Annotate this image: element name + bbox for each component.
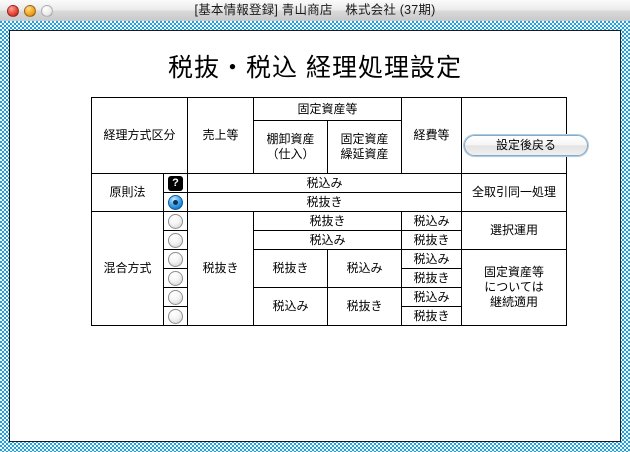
row-5-tanaoroshi: 税抜き (254, 250, 328, 288)
biko-keizoku: 固定資産等 については 継続適用 (462, 250, 567, 326)
page-title: 税抜・税込 経理処理設定 (10, 48, 620, 84)
biko-gensokuho: 全取引同一処理 (462, 174, 567, 212)
radio-row-6[interactable] (164, 269, 188, 288)
zoom-button[interactable] (41, 5, 53, 17)
header-kotei-line2: 繰延資産 (328, 147, 401, 162)
return-after-setting-button-wrap: 設定後戻る (464, 135, 588, 156)
radio-row-4[interactable] (164, 231, 188, 250)
row-6-keihi: 税抜き (402, 269, 462, 288)
kongo-uriage-value: 税抜き (188, 212, 254, 326)
row-5-kotei: 税込み (328, 250, 402, 288)
biko-keizoku-line1: 固定資産等 (462, 265, 566, 280)
table-header-row-1: 経理方式区分 売上等 固定資産等 経費等 備考 (92, 98, 567, 121)
row-3-keihi: 税込み (402, 212, 462, 231)
close-button[interactable] (7, 5, 19, 17)
group-label-gensokuho: 原則法 (92, 174, 164, 212)
biko-keizoku-line3: 継続適用 (462, 295, 566, 310)
group-label-kongo: 混合方式 (92, 212, 164, 326)
window-controls (7, 5, 53, 17)
window-title: [基本情報登録] 青山商店 株式会社 (37期) (0, 0, 630, 21)
biko-sentaku: 選択運用 (462, 212, 567, 250)
row-7-tanaoroshi: 税込み (254, 288, 328, 326)
radio-row-8[interactable] (164, 307, 188, 326)
table-row: 原則法 ? 税込み 全取引同一処理 (92, 174, 567, 193)
row-7-kotei: 税抜き (328, 288, 402, 326)
table-row: 税抜き 税込み 税込み 固定資産等 については 継続適用 (92, 250, 567, 269)
header-tanaoroshi-line2: （仕入） (254, 147, 327, 162)
radio-row-5[interactable] (164, 250, 188, 269)
content-area: 税抜・税込 経理処理設定 経理方式区分 売上等 固定資産等 経費等 (9, 30, 621, 442)
row-4-keihi: 税抜き (402, 231, 462, 250)
header-uriage: 売上等 (188, 98, 254, 174)
table-row: 混合方式 税抜き 税抜き 税込み 選択運用 (92, 212, 567, 231)
row-2-value-all: 税抜き (188, 193, 462, 212)
row-5-keihi: 税込み (402, 250, 462, 269)
header-kotei-line1: 固定資産 (328, 132, 401, 147)
radio-button-icon[interactable] (168, 271, 183, 286)
row-marker-help[interactable]: ? (164, 174, 188, 193)
biko-keizoku-line2: については (462, 280, 566, 295)
radio-row-3[interactable] (164, 212, 188, 231)
row-7-keihi: 税込み (402, 288, 462, 307)
help-question-icon[interactable]: ? (168, 176, 183, 191)
title-bar: [基本情報登録] 青山商店 株式会社 (37期) (0, 0, 630, 22)
header-tanaoroshi: 棚卸資産 （仕入） (254, 121, 328, 174)
row-3-tanaoroshi-kotei: 税抜き (254, 212, 402, 231)
header-kotei: 固定資産 繰延資産 (328, 121, 402, 174)
row-1-value-all: 税込み (188, 174, 462, 193)
radio-button-icon[interactable] (168, 252, 183, 267)
radio-button-icon[interactable] (168, 309, 183, 324)
header-keihi: 経費等 (402, 98, 462, 174)
application-window: [基本情報登録] 青山商店 株式会社 (37期) 税抜・税込 経理処理設定 経理… (0, 0, 630, 452)
header-kotei-group: 固定資産等 (254, 98, 402, 121)
header-tanaoroshi-line1: 棚卸資産 (254, 132, 327, 147)
row-4-tanaoroshi-kotei: 税込み (254, 231, 402, 250)
radio-row-2[interactable] (164, 193, 188, 212)
window-frame: 税抜・税込 経理処理設定 経理方式区分 売上等 固定資産等 経費等 (0, 21, 630, 452)
minimize-button[interactable] (24, 5, 36, 17)
radio-button-icon[interactable] (168, 290, 183, 305)
radio-button-icon[interactable] (168, 233, 183, 248)
row-8-keihi: 税抜き (402, 307, 462, 326)
accounting-method-table: 経理方式区分 売上等 固定資産等 経費等 備考 棚卸資産 （仕入） (91, 97, 567, 326)
radio-button-selected-icon[interactable] (168, 195, 183, 210)
radio-row-7[interactable] (164, 288, 188, 307)
return-after-setting-button[interactable]: 設定後戻る (464, 135, 588, 156)
header-kubun: 経理方式区分 (92, 98, 188, 174)
radio-button-icon[interactable] (168, 214, 183, 229)
